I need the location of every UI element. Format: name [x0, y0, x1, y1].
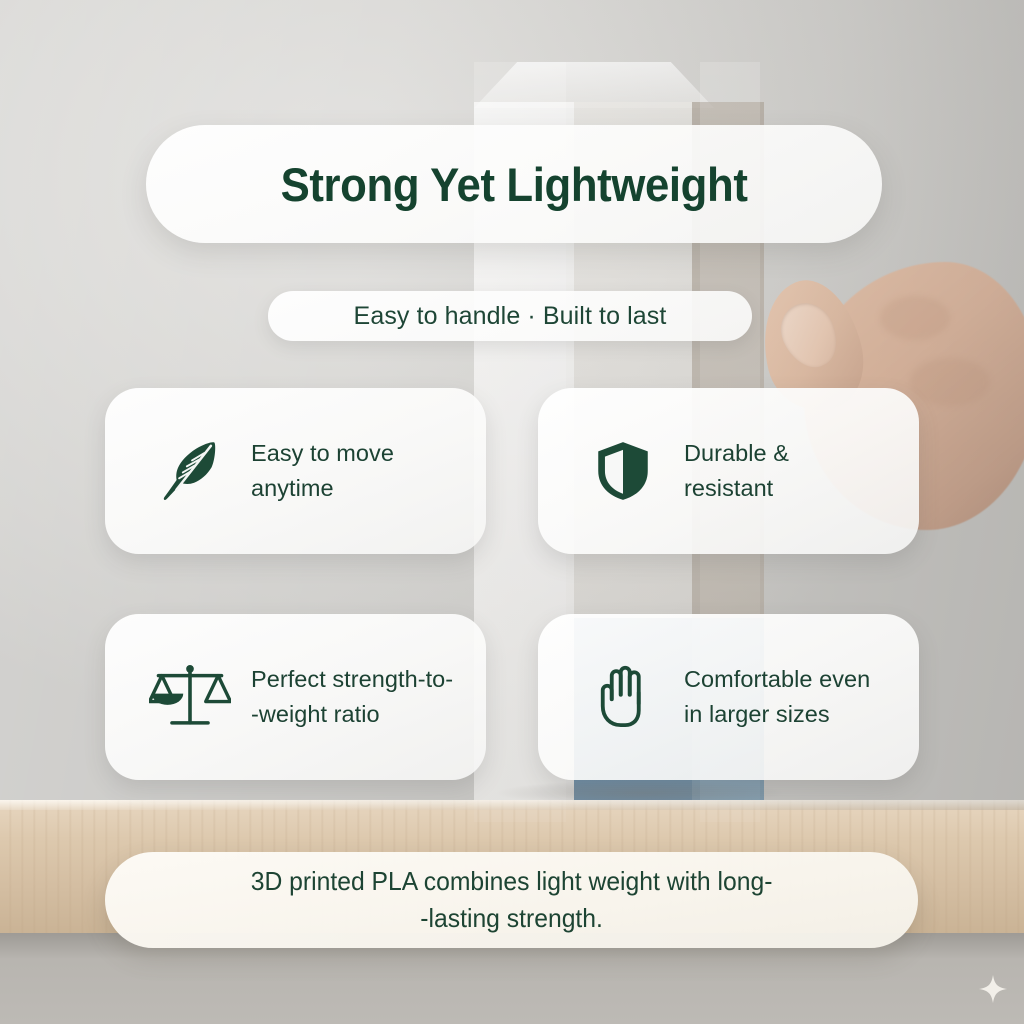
open-hand-icon	[580, 654, 666, 740]
infographic-canvas: Strong Yet Lightweight Easy to handle · …	[0, 0, 1024, 1024]
feature-label: Durable & resistant	[684, 436, 924, 506]
feature-card-durable[interactable]: Durable & resistant	[538, 388, 919, 554]
feature-card-easy-to-move[interactable]: Easy to move anytime	[105, 388, 486, 554]
shield-icon	[580, 428, 666, 514]
page-subtitle: Easy to handle · Built to last	[354, 302, 667, 331]
balance-scale-icon	[147, 654, 233, 740]
feature-card-grid: Easy to move anytime Durable & resistant	[105, 388, 919, 780]
feature-card-strength-to-weight[interactable]: Perfect strength-to- -weight ratio	[105, 614, 486, 780]
page-title: Strong Yet Lightweight	[281, 157, 748, 212]
feature-label: Perfect strength-to- -weight ratio	[251, 662, 491, 732]
feature-label: Easy to move anytime	[251, 436, 491, 506]
footer-banner: 3D printed PLA combines light weight wit…	[105, 852, 918, 948]
footer-text: 3D printed PLA combines light weight wit…	[251, 863, 773, 937]
feather-icon	[147, 428, 233, 514]
feature-card-comfortable[interactable]: Comfortable even in larger sizes	[538, 614, 919, 780]
feature-label: Comfortable even in larger sizes	[684, 662, 924, 732]
sparkle-icon	[978, 974, 1008, 1004]
title-banner: Strong Yet Lightweight	[146, 125, 882, 243]
subtitle-banner: Easy to handle · Built to last	[268, 291, 752, 341]
